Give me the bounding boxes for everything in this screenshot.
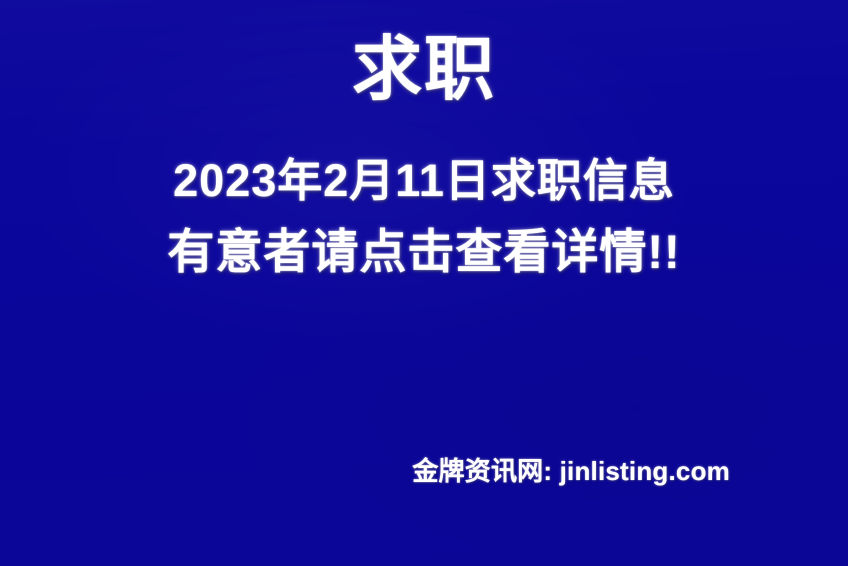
announcement-line-date: 2023年2月11日求职信息: [0, 158, 848, 203]
poster-canvas: 求职 2023年2月11日求职信息 有意者请点击查看详情!! 金牌资讯网: ji…: [0, 0, 848, 566]
footer-site-credit: 金牌资讯网: jinlisting.com: [412, 458, 730, 484]
page-title: 求职: [0, 34, 848, 104]
poster-content-layer: 求职 2023年2月11日求职信息 有意者请点击查看详情!! 金牌资讯网: ji…: [0, 0, 848, 566]
announcement-line-cta: 有意者请点击查看详情!!: [0, 228, 848, 275]
